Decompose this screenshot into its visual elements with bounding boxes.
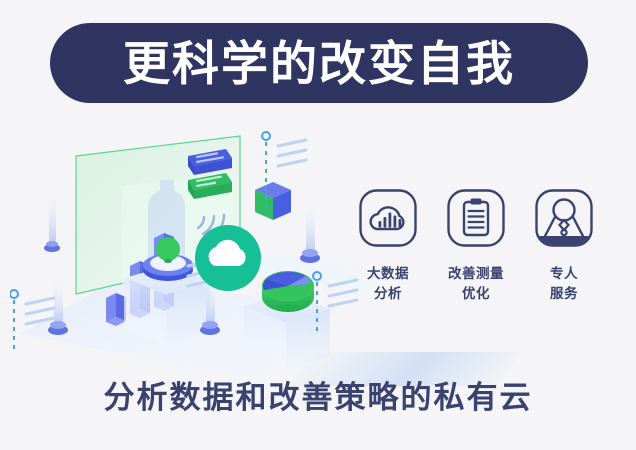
person-service-icon [532,186,596,250]
footer-tagline: 分析数据和改善策略的私有云 [0,382,636,413]
hero-illustration [10,118,370,378]
feature-list: 大数据 分析 改善测量 优化 [352,186,600,303]
feature-label: 改善测量 优化 [448,264,504,303]
feature-label: 专人 服务 [550,264,578,303]
dash-marker-b [10,290,18,354]
feature-label: 大数据 分析 [367,264,409,303]
promo-poster: 更科学的改变自我 [0,0,636,450]
feature-item-big-data[interactable]: 大数据 分析 [352,186,424,303]
pie-chart-3d [262,271,314,312]
feature-item-measurement[interactable]: 改善测量 优化 [440,186,512,303]
rod-right [300,194,320,263]
dash-ticks-b [26,298,54,324]
page-title: 更科学的改变自我 [123,40,515,87]
title-pill: 更科学的改变自我 [50,23,588,103]
dash-ticks-a [278,140,306,166]
rod-left [48,268,68,335]
cube-3d [255,182,291,220]
feature-item-service[interactable]: 专人 服务 [528,186,600,303]
clipboard-icon [444,186,508,250]
cloud-chart-icon [356,186,420,250]
cloud-badge [195,225,261,291]
panel-rod [44,180,60,252]
